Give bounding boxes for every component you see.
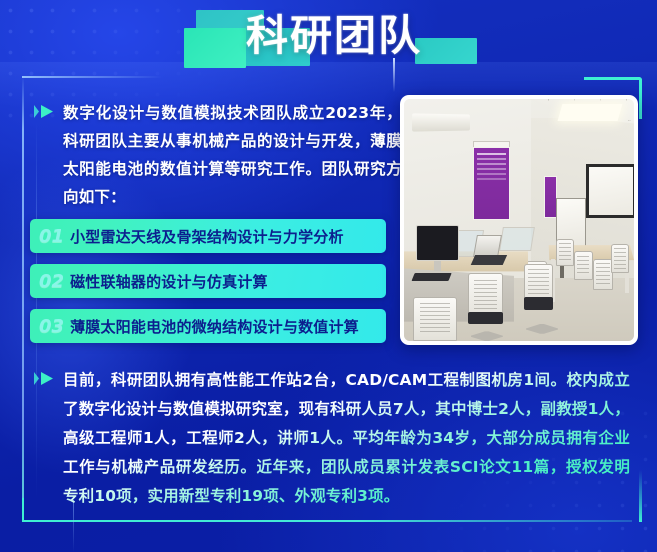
photo-chair	[574, 251, 592, 280]
photo-ceiling-light	[558, 104, 623, 121]
header-vertical-accent-line	[393, 58, 395, 92]
summary-paragraph: 目前，科研团队拥有高性能工作站2台，CAD/CAM工程制图机房1间。校内成立了数…	[63, 366, 630, 511]
header-deco-block-d	[415, 38, 477, 64]
lab-room-photo-frame	[400, 95, 638, 345]
research-directions-list: 01 小型雷达天线及骨架结构设计与力学分析 02 磁性联轴器的设计与仿真计算 0…	[30, 219, 386, 354]
list-item[interactable]: 01 小型雷达天线及骨架结构设计与力学分析	[30, 219, 386, 253]
photo-monitor	[416, 225, 460, 261]
intro-paragraph: 数字化设计与数值模拟技术团队成立2023年，科研团队主要从事机械产品的设计与开发…	[63, 99, 402, 211]
photo-office-chair-seat	[524, 297, 554, 309]
list-item-number: 02	[39, 271, 64, 292]
double-arrow-icon	[34, 372, 54, 390]
header-deco-block-b	[184, 28, 246, 68]
page-title: 科研团队	[246, 12, 422, 60]
summary-block: 目前，科研团队拥有高性能工作站2台，CAD/CAM工程制图机房1间。校内成立了数…	[34, 366, 630, 511]
list-item-label: 磁性联轴器的设计与仿真计算	[70, 271, 268, 292]
photo-projection-screen	[586, 164, 634, 217]
photo-purple-poster-large	[473, 147, 510, 220]
list-item[interactable]: 03 薄膜太阳能电池的微纳结构设计与数值计算	[30, 309, 386, 343]
photo-office-chair-seat	[468, 312, 503, 324]
list-item-label: 薄膜太阳能电池的微纳结构设计与数值计算	[70, 316, 359, 337]
photo-chair	[556, 239, 574, 266]
photo-laptop-screen	[473, 235, 502, 257]
page-header: 科研团队	[0, 0, 657, 72]
intro-block: 数字化设计与数值模拟技术团队成立2023年，科研团队主要从事机械产品的设计与开发…	[34, 99, 402, 211]
double-arrow-icon	[34, 105, 54, 123]
photo-office-chair	[413, 297, 457, 341]
photo-chair	[611, 244, 629, 273]
frame-bottom-left-corner	[22, 498, 24, 522]
frame-left-border	[22, 76, 24, 521]
list-item[interactable]: 02 磁性联轴器的设计与仿真计算	[30, 264, 386, 298]
photo-desk-divider	[499, 227, 535, 251]
frame-bottom-right-accent	[639, 470, 642, 522]
photo-keyboard	[411, 273, 451, 281]
photo-monitor-stand	[434, 261, 441, 271]
frame-bottom-border	[22, 520, 632, 522]
list-item-number: 01	[39, 226, 64, 247]
list-item-label: 小型雷达天线及骨架结构设计与力学分析	[70, 226, 344, 247]
list-item-number: 03	[39, 316, 64, 337]
frame-top-left-border	[22, 76, 162, 78]
photo-air-conditioner	[412, 113, 470, 131]
photo-laptop-base	[471, 255, 507, 265]
lab-room-photo	[404, 99, 634, 341]
